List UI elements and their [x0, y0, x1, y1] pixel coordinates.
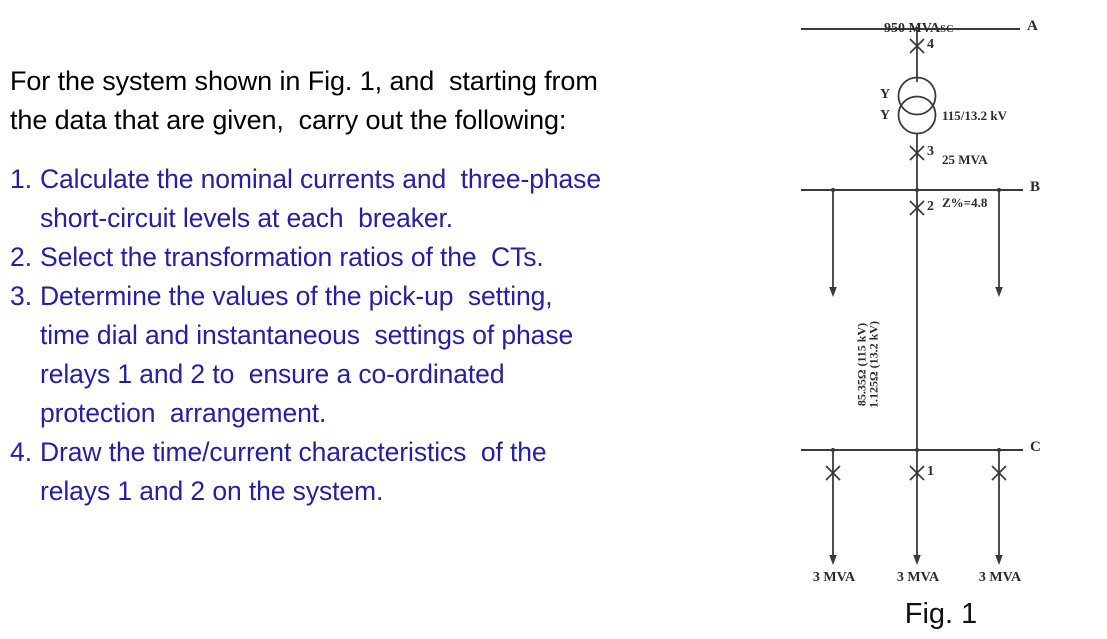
task-4-line-2: relays 1 and 2 on the system.	[40, 472, 765, 511]
source-rating-subscript: SC	[940, 24, 953, 35]
task-number-1: 1.	[10, 160, 40, 199]
task-body-2: Select the transformation ratios of the …	[40, 238, 765, 277]
task-item-4: 4. Draw the time/current characteristics…	[10, 433, 765, 511]
task-3-line-2: time dial and instantaneous settings of …	[40, 316, 765, 355]
task-3-line-1: Determine the values of the pick-up sett…	[40, 277, 765, 316]
task-body-4: Draw the time/current characteristics of…	[40, 433, 765, 511]
task-1-line-2: short-circuit levels at each breaker.	[40, 199, 765, 238]
transformer-primary-winding-label: Y	[880, 87, 890, 103]
task-item-1: 1. Calculate the nominal currents and th…	[10, 160, 765, 238]
bus-b-feeder-left-arrow	[829, 287, 837, 297]
task-1-line-1: Calculate the nominal currents and three…	[40, 160, 765, 199]
task-3-line-3: relays 1 and 2 to ensure a co-ordinated	[40, 355, 765, 394]
load-label-right: 3 MVA	[971, 570, 1029, 586]
load-label-center: 3 MVA	[889, 570, 947, 586]
transformer-spec-rating: 25 MVA	[942, 153, 1007, 168]
figure-caption: Fig. 1	[775, 598, 1107, 631]
breaker-2-label: 2	[927, 199, 934, 215]
question-panel: For the system shown in Fig. 1, and star…	[0, 0, 775, 639]
intro-line-1: For the system shown in Fig. 1, and star…	[10, 62, 760, 101]
task-number-2: 2.	[10, 238, 40, 277]
load-label-left: 3 MVA	[805, 570, 863, 586]
source-rating-label: 950 MVASC	[870, 5, 954, 53]
bus-c-feeder-center-arrow	[913, 555, 921, 565]
figure-panel: 950 MVASC A B C 4 3 2 1 Y Y 115/13.2 kV …	[775, 0, 1107, 639]
task-2-line-1: Select the transformation ratios of the …	[40, 238, 765, 277]
bus-c-feeder-left-arrow	[829, 555, 837, 565]
bus-b-label: B	[1030, 179, 1040, 196]
task-3-line-4: protection arrangement.	[40, 394, 765, 433]
bus-b-feeder-right-arrow	[995, 287, 1003, 297]
source-rating-main: 950 MVA	[884, 21, 940, 36]
transformer-secondary-winding-label: Y	[880, 108, 890, 124]
task-item-3: 3. Determine the values of the pick-up s…	[10, 277, 765, 433]
bus-a-label: A	[1027, 18, 1038, 35]
task-body-1: Calculate the nominal currents and three…	[40, 160, 765, 238]
bus-c-label: C	[1030, 439, 1041, 456]
one-line-diagram	[775, 0, 1107, 639]
task-number-3: 3.	[10, 277, 40, 316]
breaker-3-label: 3	[927, 144, 934, 160]
breaker-4-label: 4	[927, 37, 934, 53]
intro-line-2: the data that are given, carry out the f…	[10, 101, 760, 140]
transformer-spec-block: 115/13.2 kV 25 MVA Z%=4.8	[942, 80, 1007, 240]
task-number-4: 4.	[10, 433, 40, 472]
task-4-line-1: Draw the time/current characteristics of…	[40, 433, 765, 472]
task-item-2: 2. Select the transformation ratios of t…	[10, 238, 765, 277]
transformer-spec-impedance: Z%=4.8	[942, 196, 1007, 211]
task-body-3: Determine the values of the pick-up sett…	[40, 277, 765, 433]
line-impedance-label-13kv: 1.125Ω (13.2 kV)	[867, 275, 882, 455]
task-list: 1. Calculate the nominal currents and th…	[10, 160, 765, 511]
bus-c-feeder-right-arrow	[995, 555, 1003, 565]
breaker-1-label: 1	[927, 464, 934, 480]
transformer-spec-voltage: 115/13.2 kV	[942, 109, 1007, 124]
intro-paragraph: For the system shown in Fig. 1, and star…	[10, 62, 760, 140]
